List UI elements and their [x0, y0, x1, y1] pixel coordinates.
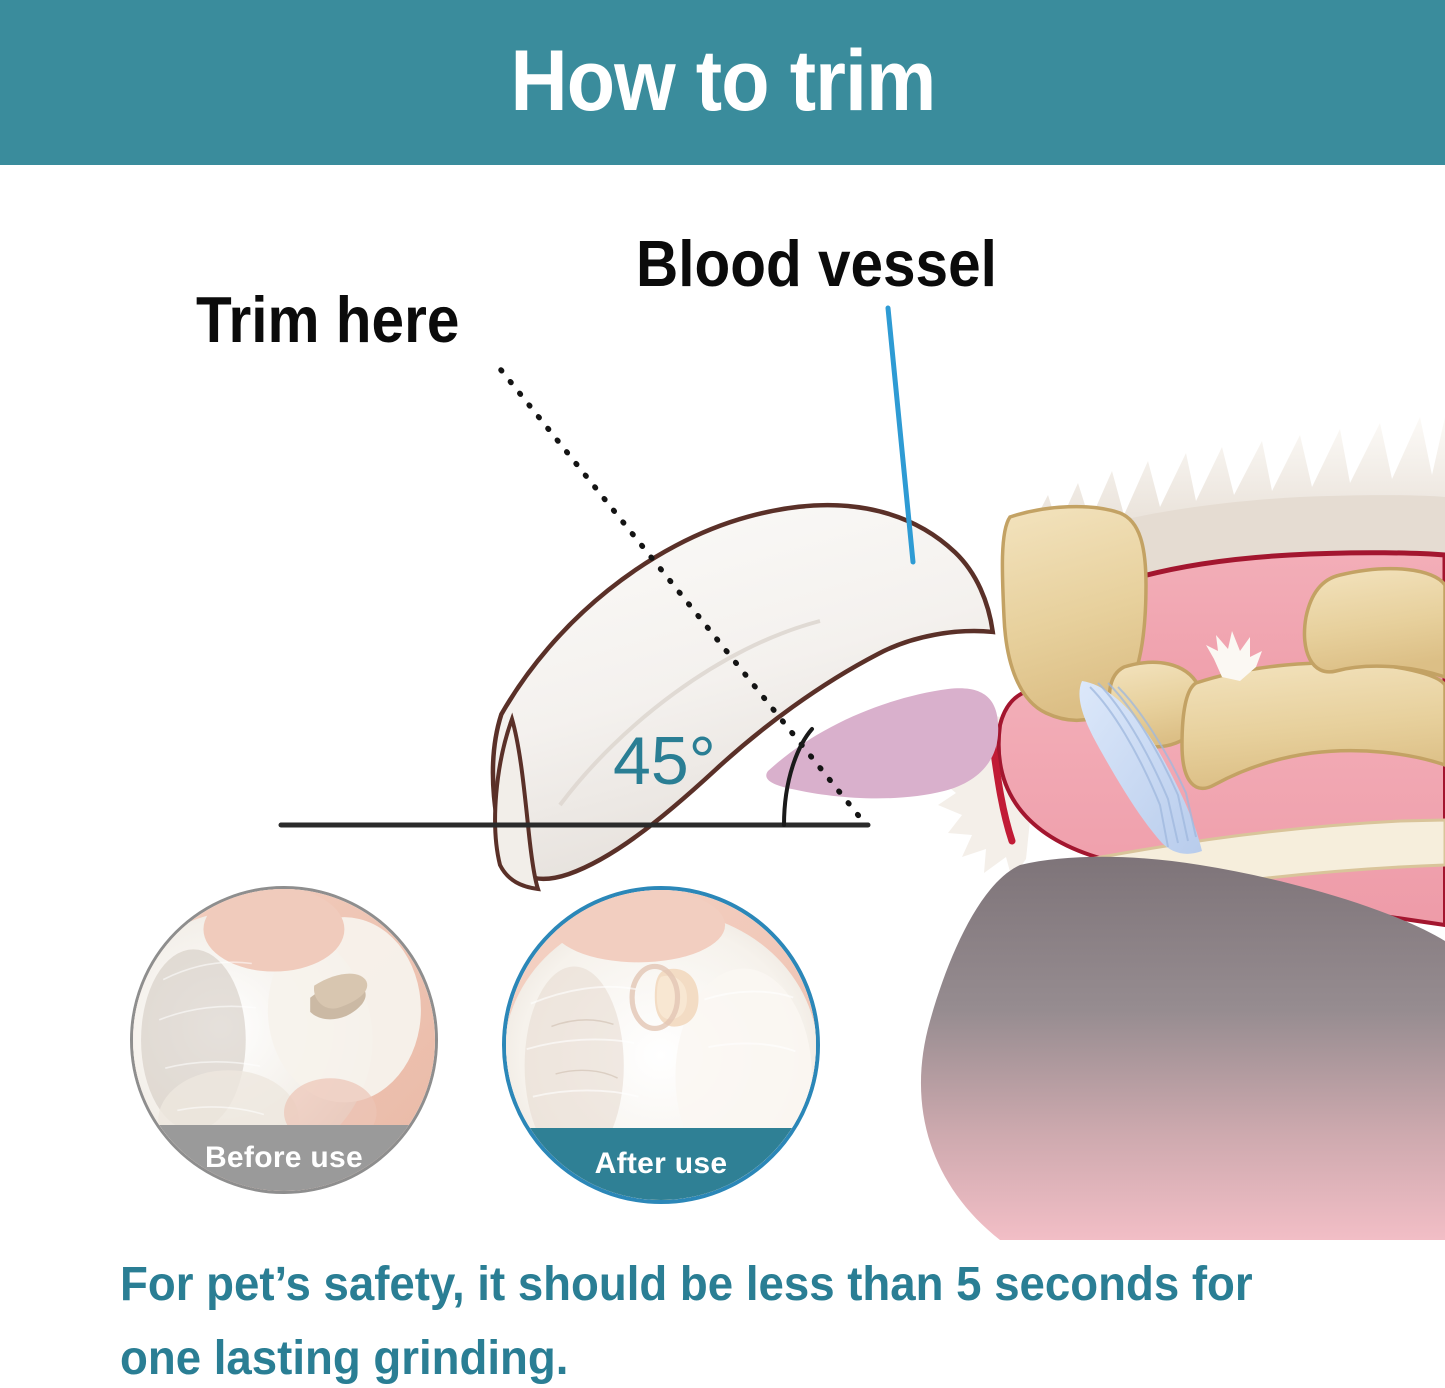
safety-note: For pet’s safety, it should be less than…: [120, 1248, 1317, 1388]
paw-pad: [921, 857, 1445, 1240]
bone-knob: [1304, 569, 1445, 677]
label-angle-45-degrees: 45°: [613, 727, 716, 795]
infographic-page: How to trim: [0, 0, 1445, 1388]
after-use-caption: After use: [506, 1128, 816, 1200]
label-blood-vessel: Blood vessel: [636, 231, 997, 296]
label-trim-here: Trim here: [196, 287, 459, 352]
page-title: How to trim: [510, 38, 935, 124]
before-use-caption: Before use: [133, 1125, 435, 1191]
header-banner: How to trim: [0, 0, 1445, 165]
before-use-photo[interactable]: Before use: [130, 886, 438, 1194]
claw: [475, 494, 1007, 889]
after-use-photo[interactable]: After use: [502, 886, 820, 1204]
